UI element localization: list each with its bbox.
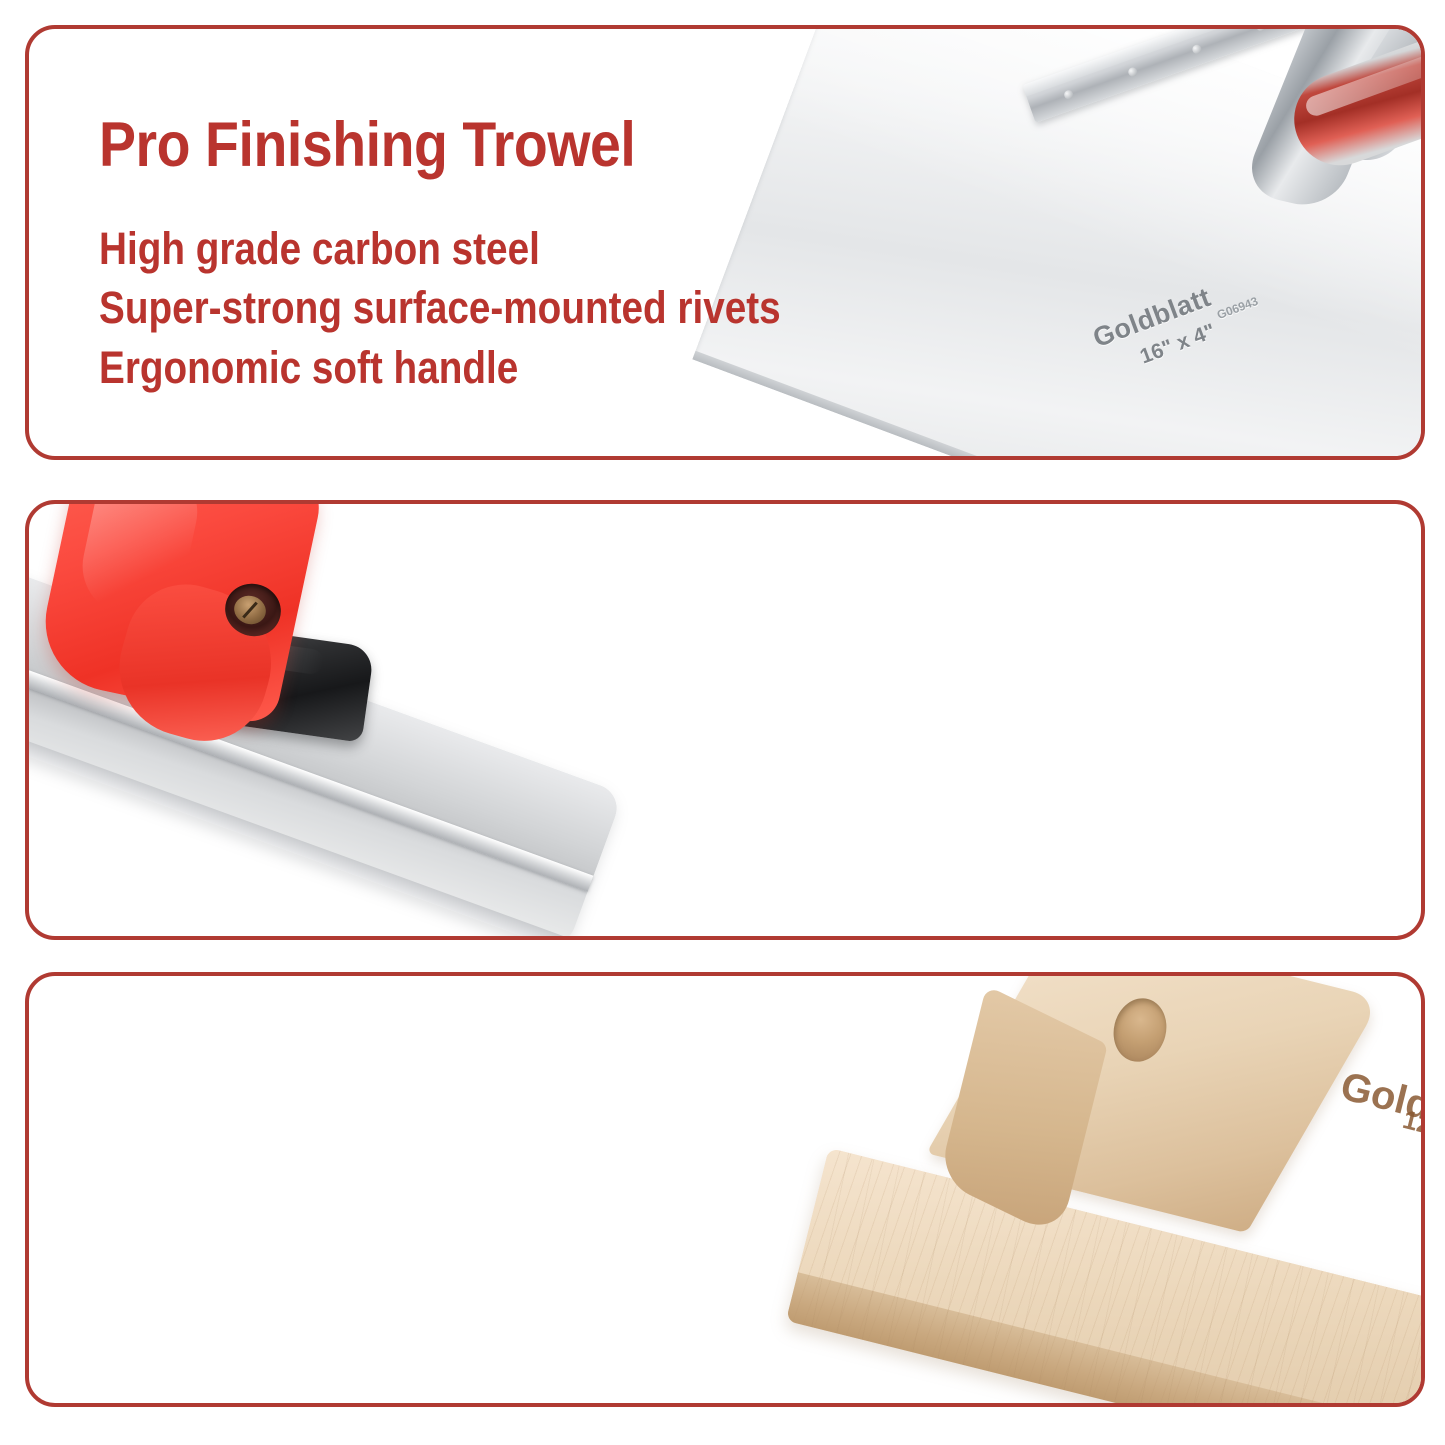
feature-panel-pro-finishing-trowel: Goldblatt 16" x 4" G06943 Pro Finishing … (25, 25, 1425, 460)
trowel-rivet (1191, 44, 1202, 55)
panel-1-feature-list: High grade carbon steel Super-strong sur… (99, 219, 781, 397)
infographic-canvas: Goldblatt 16" x 4" G06943 Pro Finishing … (0, 0, 1445, 1445)
panel-1-text-block: Pro Finishing Trowel High grade carbon s… (99, 114, 892, 397)
feature-item: High grade carbon steel (99, 219, 781, 278)
feature-item: Super-strong surface-mounted rivets (99, 278, 781, 337)
panel-1-heading: Pro Finishing Trowel (99, 114, 797, 177)
product-image-alloy-float (29, 504, 1421, 936)
feature-panel-extruded-alloy-float: Extruded Alloy Float Cast alloy body Tap… (25, 500, 1425, 940)
feature-item: Ergonomic soft handle (99, 338, 781, 397)
trowel-rivet (1063, 89, 1074, 100)
product-image-wood-float: Gold 12 (29, 976, 1421, 1403)
feature-panel-wood-float: Gold 12 Wood Float High grade beech wood… (25, 972, 1425, 1407)
trowel-rivet (1127, 66, 1138, 77)
trowel-rivet (1255, 25, 1266, 32)
